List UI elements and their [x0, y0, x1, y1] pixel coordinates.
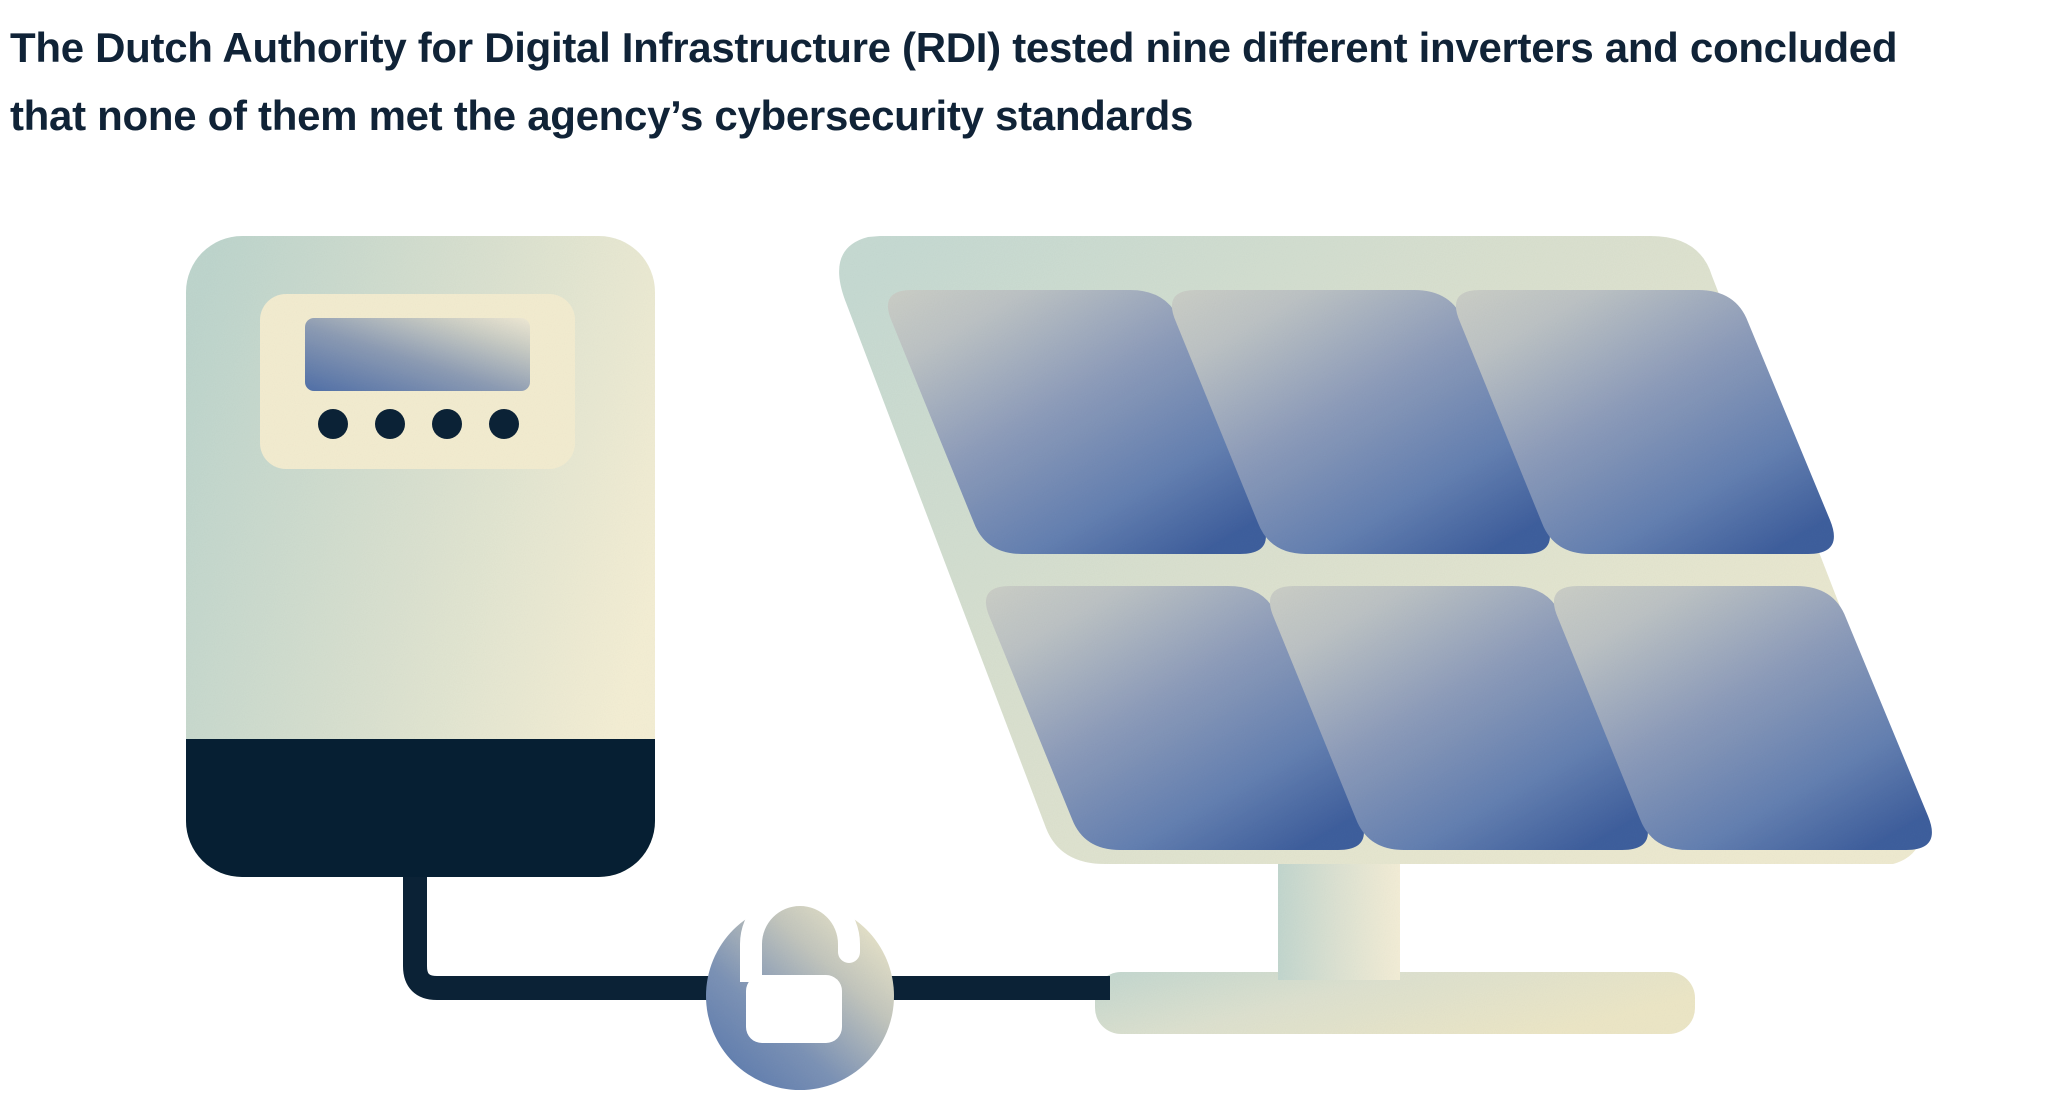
- solar-panel-stand: [1278, 860, 1400, 980]
- indicator-dot-1: [318, 409, 348, 439]
- inverter-screen: [305, 318, 530, 391]
- inverter-base-band: [186, 739, 655, 879]
- solar-panel-cells-row-1: [888, 290, 1834, 554]
- inverter-group: [186, 236, 655, 879]
- solar-panel-group: [839, 236, 1932, 1034]
- solar-panel-base: [1095, 972, 1695, 1034]
- indicator-dot-4: [489, 409, 519, 439]
- indicator-dot-2: [375, 409, 405, 439]
- indicator-dot-3: [432, 409, 462, 439]
- lock-badge: [706, 884, 894, 1090]
- solar-panel-cells-row-2: [986, 586, 1932, 850]
- solar-inverter-cybersecurity-illustration: [0, 0, 2048, 1109]
